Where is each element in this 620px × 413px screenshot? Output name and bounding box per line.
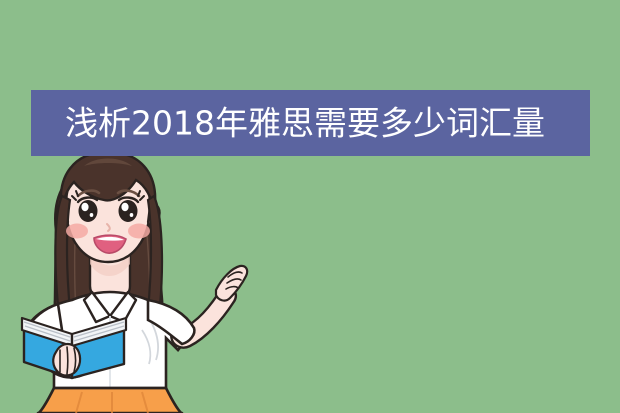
page-title: 浅析2018年雅思需要多少词汇量 <box>65 107 545 140</box>
skirt <box>38 388 182 413</box>
cartoon-girl-illustration <box>0 0 620 413</box>
hair-lock-right <box>148 196 162 313</box>
blush-left <box>66 224 88 239</box>
hair-lock-left <box>55 196 70 313</box>
poster-canvas: 浅析2018年雅思需要多少词汇量 <box>0 0 620 413</box>
title-banner: 浅析2018年雅思需要多少词汇量 <box>31 90 590 156</box>
blush-right <box>128 224 150 239</box>
